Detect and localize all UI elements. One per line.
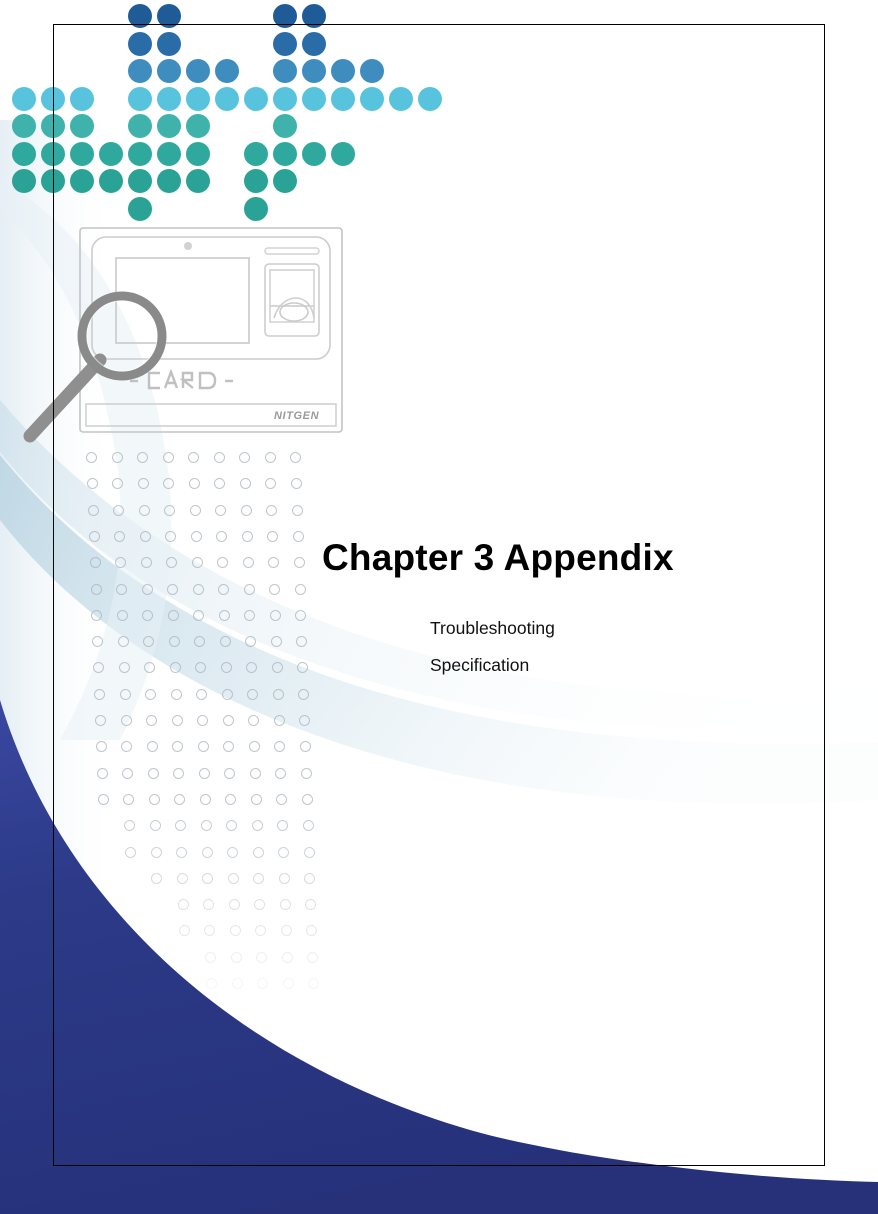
logo-dot xyxy=(273,142,297,166)
grid-ring xyxy=(121,741,132,752)
grid-ring xyxy=(308,978,319,989)
grid-ring xyxy=(255,925,266,936)
grid-ring xyxy=(143,636,154,647)
grid-ring xyxy=(283,978,294,989)
grid-ring xyxy=(151,873,162,884)
grid-ring xyxy=(170,662,181,673)
logo-dot xyxy=(128,32,152,56)
grid-ring xyxy=(169,636,180,647)
grid-ring xyxy=(146,715,157,726)
logo-dot xyxy=(273,32,297,56)
grid-ring xyxy=(273,689,284,700)
logo-dot xyxy=(70,169,94,193)
grid-ring xyxy=(139,505,150,516)
grid-ring xyxy=(244,584,255,595)
logo-dot xyxy=(331,87,355,111)
subtitle-list: Troubleshooting Specification xyxy=(322,620,792,675)
grid-ring xyxy=(151,847,162,858)
grid-ring xyxy=(244,610,255,621)
logo-dot xyxy=(302,59,326,83)
grid-ring xyxy=(271,636,282,647)
grid-ring xyxy=(118,636,129,647)
grid-ring xyxy=(303,820,314,831)
logo-dot xyxy=(70,142,94,166)
logo-dot xyxy=(186,114,210,138)
logo-dot xyxy=(273,4,297,28)
grid-ring xyxy=(295,610,306,621)
logo-dot xyxy=(389,87,413,111)
grid-ring xyxy=(113,505,124,516)
page-title: Chapter 3 Appendix xyxy=(322,538,792,579)
grid-ring xyxy=(201,820,212,831)
grid-ring xyxy=(225,794,236,805)
grid-ring xyxy=(175,820,186,831)
subtitle-specification: Specification xyxy=(430,657,792,675)
device-card-label xyxy=(130,372,233,388)
logo-dot xyxy=(360,59,384,83)
grid-ring xyxy=(89,531,100,542)
logo-dot xyxy=(128,87,152,111)
grid-ring xyxy=(206,978,217,989)
grid-ring xyxy=(270,610,281,621)
grid-ring xyxy=(192,557,203,568)
subtitle-troubleshooting: Troubleshooting xyxy=(430,620,792,638)
grid-ring xyxy=(167,584,178,595)
logo-dot xyxy=(157,169,181,193)
grid-ring xyxy=(242,531,253,542)
grid-ring xyxy=(272,662,283,673)
grid-ring xyxy=(274,715,285,726)
logo-dot xyxy=(157,4,181,28)
grid-ring xyxy=(279,873,290,884)
grid-ring xyxy=(216,531,227,542)
logo-dot xyxy=(12,142,36,166)
grid-ring xyxy=(148,768,159,779)
grid-ring xyxy=(147,741,158,752)
grid-ring xyxy=(231,952,242,963)
grid-ring xyxy=(304,847,315,858)
grid-ring xyxy=(218,584,229,595)
logo-dot xyxy=(12,169,36,193)
grid-ring xyxy=(177,873,188,884)
grid-ring xyxy=(171,689,182,700)
grid-ring xyxy=(116,584,127,595)
grid-ring xyxy=(224,768,235,779)
perforation-grid xyxy=(86,452,306,1012)
grid-ring xyxy=(172,715,183,726)
logo-dot xyxy=(360,87,384,111)
grid-ring xyxy=(266,505,277,516)
grid-ring xyxy=(91,610,102,621)
grid-ring xyxy=(292,505,303,516)
grid-ring xyxy=(280,899,291,910)
grid-ring xyxy=(96,741,107,752)
logo-dot xyxy=(244,87,268,111)
logo-dot xyxy=(70,87,94,111)
logo-dot xyxy=(302,32,326,56)
grid-ring xyxy=(257,978,268,989)
logo-dot xyxy=(244,169,268,193)
grid-ring xyxy=(215,505,226,516)
grid-ring xyxy=(117,610,128,621)
grid-ring xyxy=(87,478,98,489)
grid-ring xyxy=(223,715,234,726)
logo-dot xyxy=(273,114,297,138)
grid-ring xyxy=(190,505,201,516)
grid-ring xyxy=(123,794,134,805)
grid-ring xyxy=(119,662,130,673)
dot-matrix-logo xyxy=(0,0,400,210)
grid-ring xyxy=(197,715,208,726)
grid-ring xyxy=(179,925,190,936)
logo-dot xyxy=(157,87,181,111)
grid-ring xyxy=(142,610,153,621)
grid-ring xyxy=(145,689,156,700)
grid-ring xyxy=(221,662,232,673)
grid-ring xyxy=(276,794,287,805)
grid-ring xyxy=(301,768,312,779)
grid-ring xyxy=(226,820,237,831)
svg-text:NITGEN: NITGEN xyxy=(274,410,320,422)
grid-ring xyxy=(93,662,104,673)
grid-ring xyxy=(223,741,234,752)
logo-dot xyxy=(273,87,297,111)
grid-ring xyxy=(165,531,176,542)
logo-dot xyxy=(302,4,326,28)
grid-ring xyxy=(229,899,240,910)
device-illustration: NITGEN xyxy=(12,208,362,458)
grid-ring xyxy=(195,662,206,673)
grid-ring xyxy=(112,478,123,489)
logo-dot xyxy=(331,59,355,83)
grid-ring xyxy=(150,820,161,831)
cover-page: NITGEN Chapter 3 Appendix Troubleshootin… xyxy=(0,0,878,1214)
logo-dot xyxy=(331,142,355,166)
grid-ring xyxy=(202,847,213,858)
logo-dot xyxy=(186,142,210,166)
grid-ring xyxy=(240,478,251,489)
grid-ring xyxy=(142,584,153,595)
grid-ring xyxy=(249,741,260,752)
grid-ring xyxy=(243,557,254,568)
grid-ring xyxy=(88,505,99,516)
grid-ring xyxy=(125,847,136,858)
grid-ring xyxy=(217,557,228,568)
logo-dot xyxy=(128,4,152,28)
logo-dot xyxy=(12,114,36,138)
grid-ring xyxy=(246,662,257,673)
grid-ring xyxy=(277,820,288,831)
grid-ring xyxy=(219,610,230,621)
logo-dot xyxy=(273,169,297,193)
grid-ring xyxy=(121,715,132,726)
logo-dot xyxy=(157,32,181,56)
grid-ring xyxy=(256,952,267,963)
grid-ring xyxy=(115,557,126,568)
logo-dot xyxy=(186,59,210,83)
grid-ring xyxy=(307,952,318,963)
grid-ring xyxy=(295,584,306,595)
grid-ring xyxy=(194,636,205,647)
grid-ring xyxy=(138,478,149,489)
grid-ring xyxy=(278,847,289,858)
grid-ring xyxy=(191,531,202,542)
grid-ring xyxy=(228,873,239,884)
logo-dot xyxy=(302,142,326,166)
logo-dot xyxy=(273,59,297,83)
grid-ring xyxy=(267,531,278,542)
logo-dot xyxy=(12,87,36,111)
grid-ring xyxy=(232,978,243,989)
grid-ring xyxy=(196,689,207,700)
grid-ring xyxy=(141,557,152,568)
logo-dot xyxy=(41,114,65,138)
grid-ring xyxy=(163,478,174,489)
logo-dot xyxy=(70,114,94,138)
grid-ring xyxy=(97,768,108,779)
logo-dot xyxy=(215,59,239,83)
logo-dot xyxy=(128,114,152,138)
grid-ring xyxy=(202,873,213,884)
logo-dot xyxy=(244,142,268,166)
grid-ring xyxy=(189,478,200,489)
logo-dot xyxy=(186,169,210,193)
grid-ring xyxy=(200,794,211,805)
grid-ring xyxy=(140,531,151,542)
magnifying-glass-icon xyxy=(30,296,162,436)
grid-ring xyxy=(269,584,280,595)
logo-dot xyxy=(157,142,181,166)
grid-ring xyxy=(298,689,309,700)
grid-ring xyxy=(245,636,256,647)
grid-ring xyxy=(248,715,259,726)
grid-ring xyxy=(252,820,263,831)
access-terminal-drawing: NITGEN xyxy=(12,208,362,458)
logo-dot xyxy=(41,169,65,193)
grid-ring xyxy=(302,794,313,805)
grid-ring xyxy=(94,689,105,700)
title-block: Chapter 3 Appendix Troubleshooting Speci… xyxy=(322,538,792,675)
grid-ring xyxy=(124,820,135,831)
logo-dot xyxy=(128,142,152,166)
logo-dot xyxy=(128,169,152,193)
grid-ring xyxy=(299,715,310,726)
grid-ring xyxy=(253,873,264,884)
grid-ring xyxy=(90,557,101,568)
grid-ring xyxy=(220,636,231,647)
grid-ring xyxy=(149,794,160,805)
grid-ring xyxy=(253,847,264,858)
grid-ring xyxy=(275,768,286,779)
grid-ring xyxy=(92,636,103,647)
grid-ring xyxy=(214,478,225,489)
grid-ring xyxy=(176,847,187,858)
grid-ring xyxy=(227,847,238,858)
grid-ring xyxy=(198,741,209,752)
grid-ring xyxy=(122,768,133,779)
grid-ring xyxy=(254,899,265,910)
grid-ring xyxy=(265,478,276,489)
grid-ring xyxy=(178,899,189,910)
grid-ring xyxy=(166,557,177,568)
led-indicator-icon xyxy=(184,242,192,250)
grid-ring xyxy=(199,768,210,779)
nitgen-brand-mark: NITGEN xyxy=(270,407,332,422)
grid-ring xyxy=(193,610,204,621)
logo-dot xyxy=(215,87,239,111)
grid-ring xyxy=(251,794,262,805)
logo-dot xyxy=(41,142,65,166)
grid-ring xyxy=(230,925,241,936)
grid-ring xyxy=(222,689,233,700)
logo-dot xyxy=(99,142,123,166)
grid-ring xyxy=(204,925,215,936)
grid-ring xyxy=(164,505,175,516)
grid-ring xyxy=(282,952,293,963)
grid-ring xyxy=(274,741,285,752)
grid-ring xyxy=(293,531,304,542)
grid-ring xyxy=(205,952,216,963)
grid-ring xyxy=(268,557,279,568)
logo-dot xyxy=(418,87,442,111)
grid-ring xyxy=(203,899,214,910)
grid-ring xyxy=(91,584,102,595)
grid-ring xyxy=(114,531,125,542)
grid-ring xyxy=(173,768,184,779)
grid-ring xyxy=(174,794,185,805)
grid-ring xyxy=(247,689,258,700)
grid-ring xyxy=(281,925,292,936)
grid-ring xyxy=(168,610,179,621)
logo-dot xyxy=(128,59,152,83)
grid-ring xyxy=(95,715,106,726)
grid-ring xyxy=(120,689,131,700)
logo-dot xyxy=(186,87,210,111)
grid-ring xyxy=(98,794,109,805)
logo-dot xyxy=(157,114,181,138)
grid-ring xyxy=(172,741,183,752)
logo-dot xyxy=(99,169,123,193)
logo-dot xyxy=(157,59,181,83)
grid-ring xyxy=(294,557,305,568)
logo-dot xyxy=(302,87,326,111)
grid-ring xyxy=(291,478,302,489)
logo-dot xyxy=(41,87,65,111)
grid-ring xyxy=(144,662,155,673)
grid-ring xyxy=(296,636,307,647)
grid-ring xyxy=(241,505,252,516)
grid-ring xyxy=(250,768,261,779)
grid-ring xyxy=(193,584,204,595)
